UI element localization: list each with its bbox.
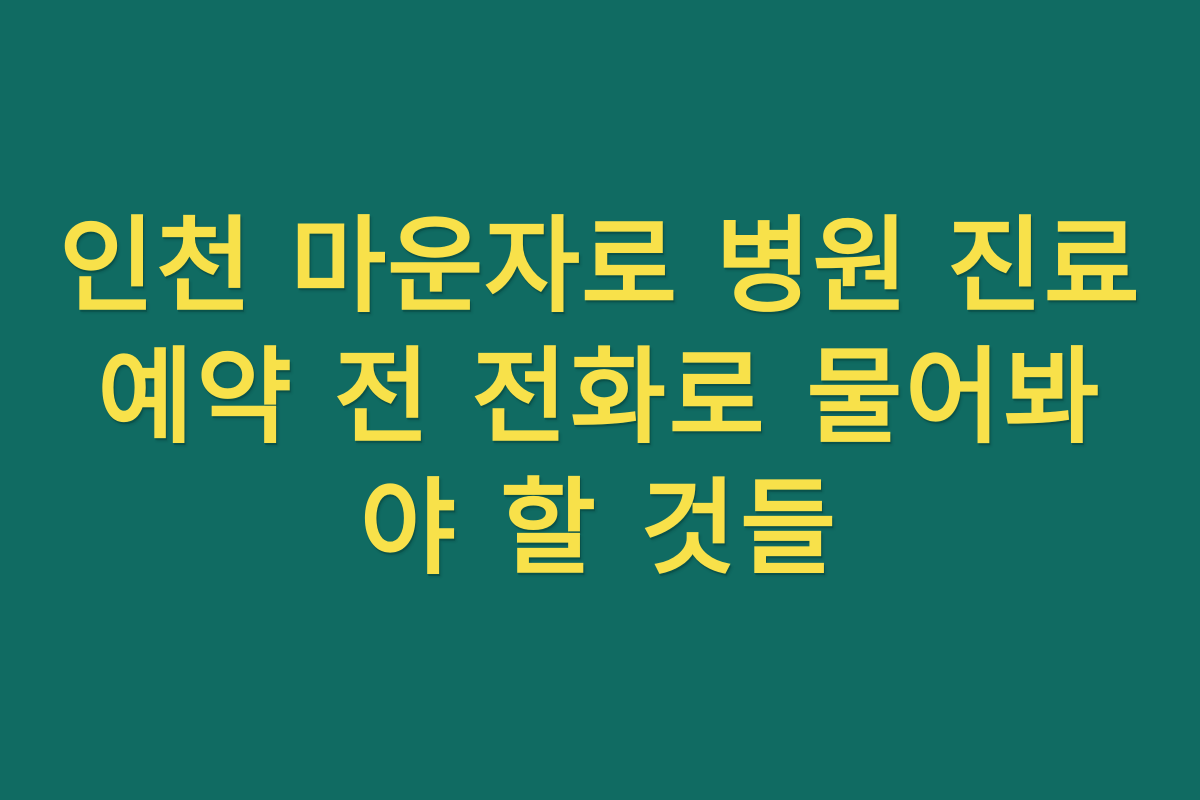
thumbnail-card: 인천 마운자로 병원 진료 예약 전 전화로 물어봐 야 할 것들 xyxy=(0,0,1200,800)
headline-line-3: 야 할 것들 xyxy=(40,463,1160,594)
headline-block: 인천 마운자로 병원 진료 예약 전 전화로 물어봐 야 할 것들 xyxy=(40,201,1160,594)
headline-line-1: 인천 마운자로 병원 진료 xyxy=(40,201,1160,332)
headline-line-2: 예약 전 전화로 물어봐 xyxy=(40,332,1160,463)
